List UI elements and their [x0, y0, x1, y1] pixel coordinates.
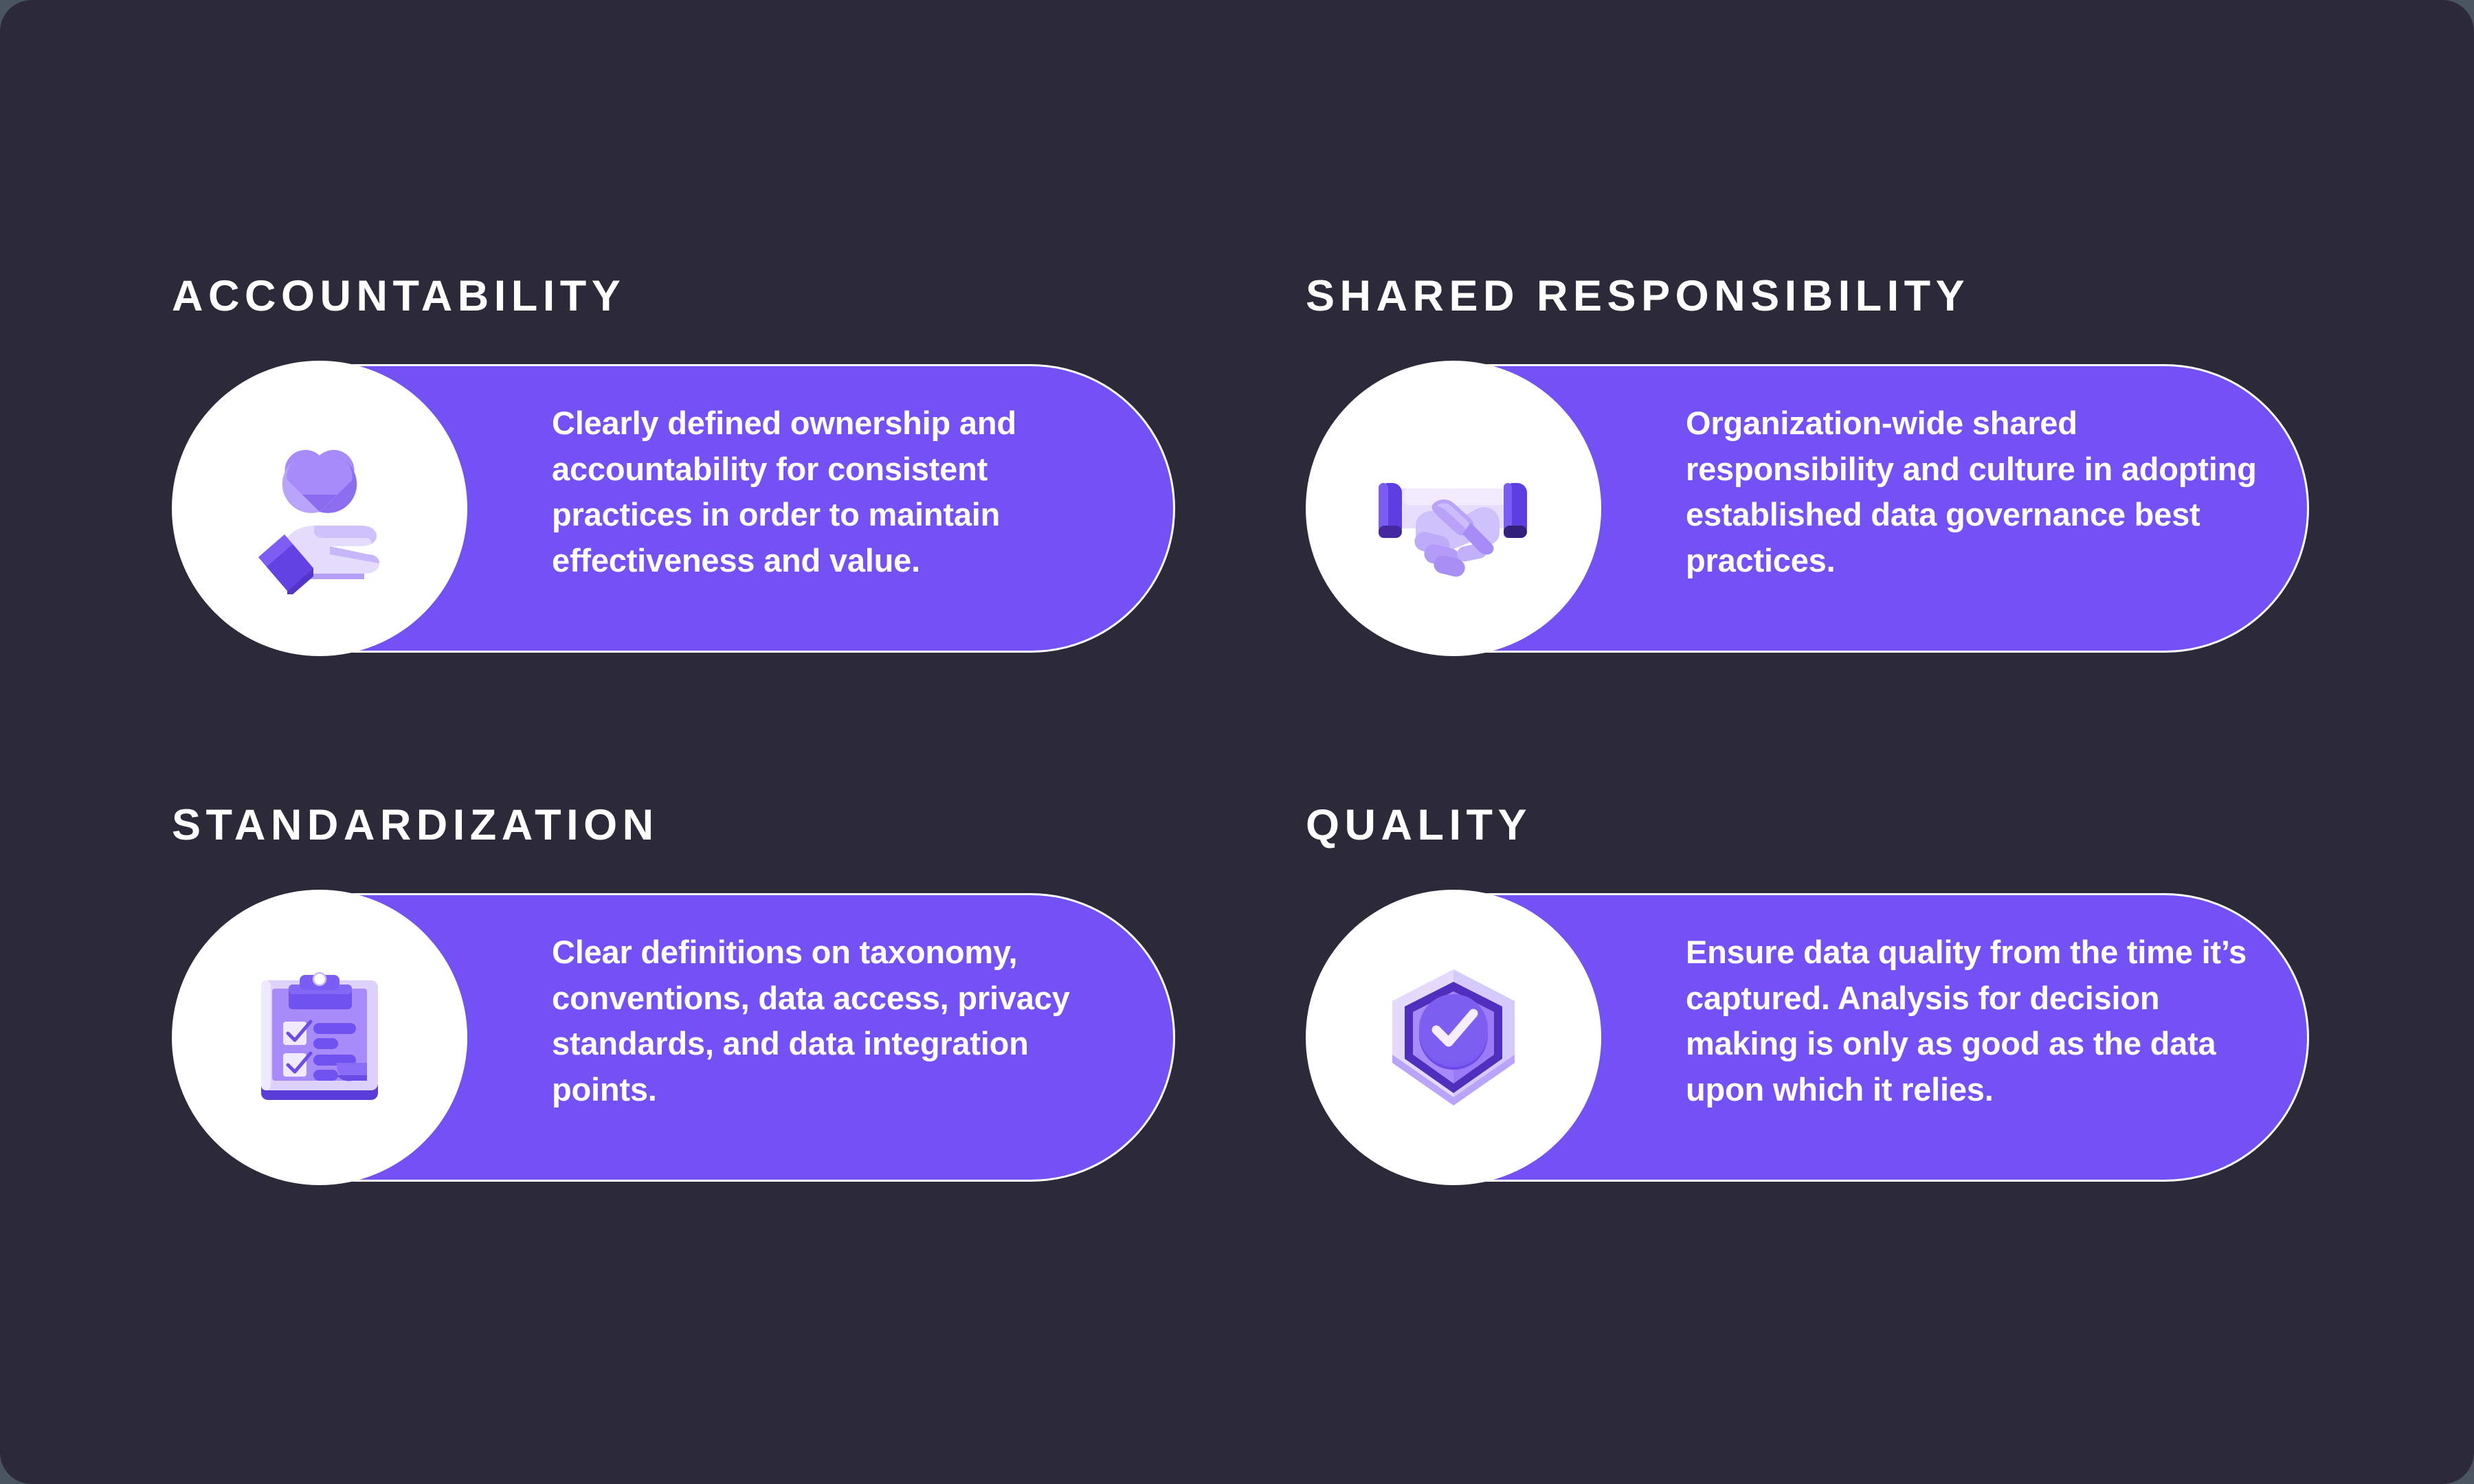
- heart-in-hand-icon: [234, 423, 405, 594]
- principle-card-shared-responsibility[interactable]: SHARED RESPONSIBILITY Organization-wide …: [1306, 275, 2350, 618]
- card-title: SHARED RESPONSIBILITY: [1306, 275, 1970, 318]
- shield-check-icon: [1368, 952, 1539, 1123]
- principle-card-standardization[interactable]: STANDARDIZATION Clear definitions on tax…: [172, 804, 1216, 1147]
- card-title: ACCOUNTABILITY: [172, 275, 625, 318]
- clipboard-checklist-icon: [234, 952, 405, 1123]
- principle-card-quality[interactable]: QUALITY Ensure data quality from the tim…: [1306, 804, 2350, 1147]
- infographic-canvas: ACCOUNTABILITY Clearly defined ownership…: [0, 0, 2474, 1484]
- card-body-text: Ensure data quality from the time it’s c…: [1686, 930, 2263, 1113]
- icon-circle: [172, 361, 467, 656]
- icon-circle: [1306, 361, 1601, 656]
- card-body-text: Clearly defined ownership and accountabi…: [552, 401, 1129, 584]
- card-pill: Clearly defined ownership and accountabi…: [172, 364, 1216, 653]
- card-pill: Organization-wide shared responsibility …: [1306, 364, 2350, 653]
- principle-card-accountability[interactable]: ACCOUNTABILITY Clearly defined ownership…: [172, 275, 1216, 618]
- card-pill: Ensure data quality from the time it’s c…: [1306, 893, 2350, 1182]
- card-title: STANDARDIZATION: [172, 804, 659, 847]
- handshake-icon: [1368, 423, 1539, 594]
- card-body-text: Clear definitions on taxonomy, conventio…: [552, 930, 1129, 1113]
- principles-grid: ACCOUNTABILITY Clearly defined ownership…: [0, 0, 2474, 1484]
- card-pill: Clear definitions on taxonomy, conventio…: [172, 893, 1216, 1182]
- icon-circle: [1306, 890, 1601, 1185]
- icon-circle: [172, 890, 467, 1185]
- card-body-text: Organization-wide shared responsibility …: [1686, 401, 2263, 584]
- card-title: QUALITY: [1306, 804, 1532, 847]
